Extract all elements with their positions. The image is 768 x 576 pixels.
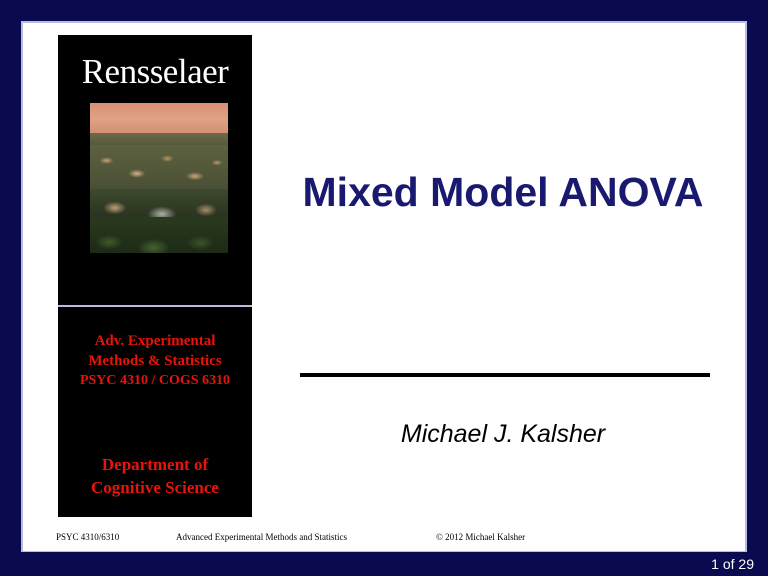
photo-sky: [90, 103, 228, 137]
panel-divider: [58, 305, 252, 307]
footer-copyright: © 2012 Michael Kalsher: [436, 531, 636, 543]
rensselaer-wordmark: Rensselaer: [58, 53, 252, 91]
department-line-1: Department of: [58, 453, 252, 476]
slide-viewer: Rensselaer Adv. Experimental Methods & S…: [0, 0, 768, 576]
author-name: Michael J. Kalsher: [278, 419, 728, 449]
footer-course-name: Advanced Experimental Methods and Statis…: [176, 531, 436, 543]
rensselaer-logo-panel: Rensselaer Adv. Experimental Methods & S…: [58, 35, 252, 517]
footer-course-code: PSYC 4310/6310: [56, 531, 176, 543]
slide-footer: PSYC 4310/6310 Advanced Experimental Met…: [56, 531, 716, 543]
title-divider-rule: [300, 373, 710, 377]
course-block: Adv. Experimental Methods & Statistics P…: [58, 331, 252, 391]
photo-foliage: [90, 217, 228, 253]
department-block: Department of Cognitive Science: [58, 453, 252, 499]
course-number-line: PSYC 4310 / COGS 6310: [58, 371, 252, 391]
page-title: Mixed Model ANOVA: [278, 168, 728, 216]
page-indicator: 1 of 29: [711, 555, 754, 573]
campus-photo: [90, 103, 228, 253]
slide-canvas: Rensselaer Adv. Experimental Methods & S…: [23, 23, 745, 551]
department-line-2: Cognitive Science: [58, 476, 252, 499]
course-title-line-1: Adv. Experimental: [58, 331, 252, 351]
course-title-line-2: Methods & Statistics: [58, 351, 252, 371]
